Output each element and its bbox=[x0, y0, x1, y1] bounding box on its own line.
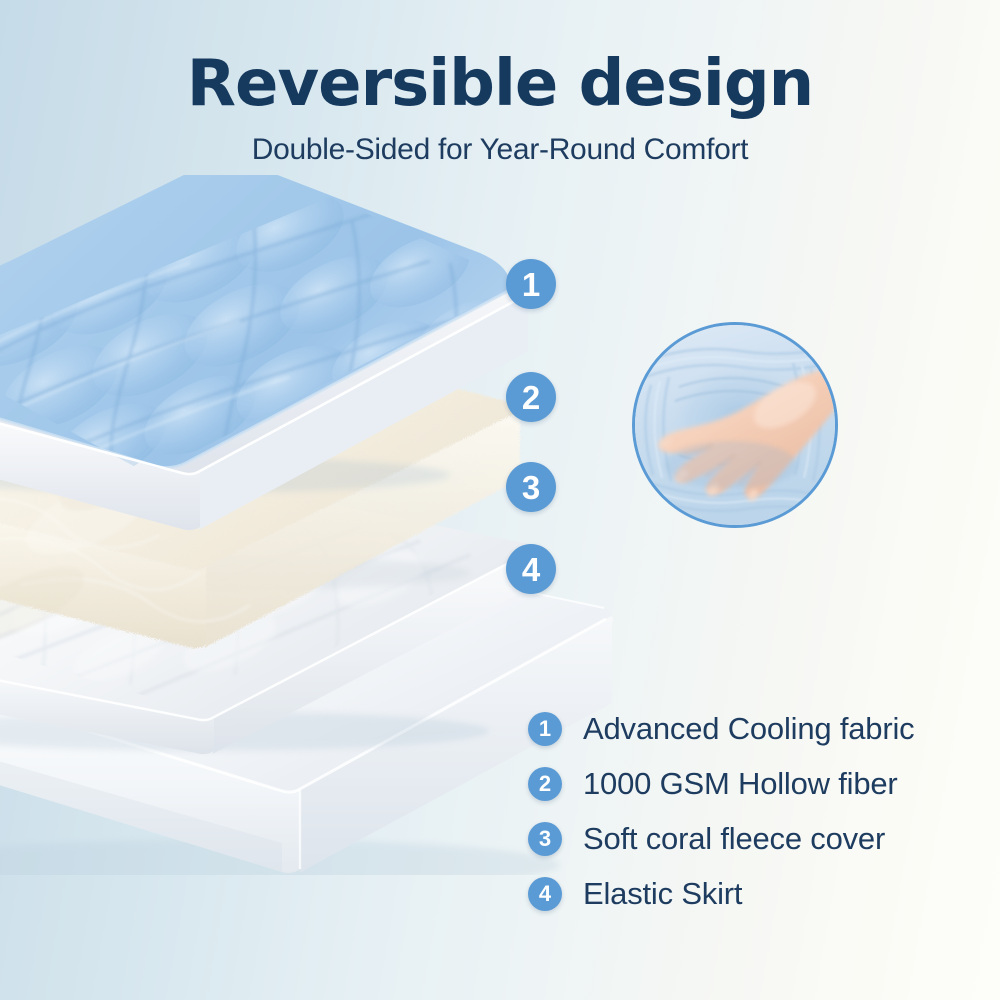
legend-item-1: 1 Advanced Cooling fabric bbox=[528, 701, 968, 756]
infographic-canvas: Reversible design Double-Sided for Year-… bbox=[0, 0, 1000, 1000]
page-subtitle: Double-Sided for Year-Round Comfort bbox=[0, 133, 1000, 167]
legend-badge-4: 4 bbox=[528, 877, 562, 911]
callout-badge-1: 1 bbox=[506, 259, 556, 309]
legend-badge-1: 1 bbox=[528, 712, 562, 746]
hand-press-inset-circle bbox=[632, 322, 838, 528]
legend-label-3: Soft coral fleece cover bbox=[583, 821, 885, 857]
legend-label-2: 1000 GSM Hollow fiber bbox=[583, 766, 898, 802]
legend-badge-2: 2 bbox=[528, 767, 562, 801]
legend-item-3: 3 Soft coral fleece cover bbox=[528, 811, 968, 866]
callout-badge-3: 3 bbox=[506, 462, 556, 512]
callout-badge-4: 4 bbox=[506, 544, 556, 594]
legend-list: 1 Advanced Cooling fabric 2 1000 GSM Hol… bbox=[528, 701, 968, 921]
legend-item-4: 4 Elastic Skirt bbox=[528, 866, 968, 921]
callout-badge-2: 2 bbox=[506, 372, 556, 422]
legend-label-1: Advanced Cooling fabric bbox=[583, 711, 914, 747]
legend-label-4: Elastic Skirt bbox=[583, 876, 742, 912]
page-title: Reversible design bbox=[0, 52, 1000, 116]
legend-badge-3: 3 bbox=[528, 822, 562, 856]
legend-item-2: 2 1000 GSM Hollow fiber bbox=[528, 756, 968, 811]
